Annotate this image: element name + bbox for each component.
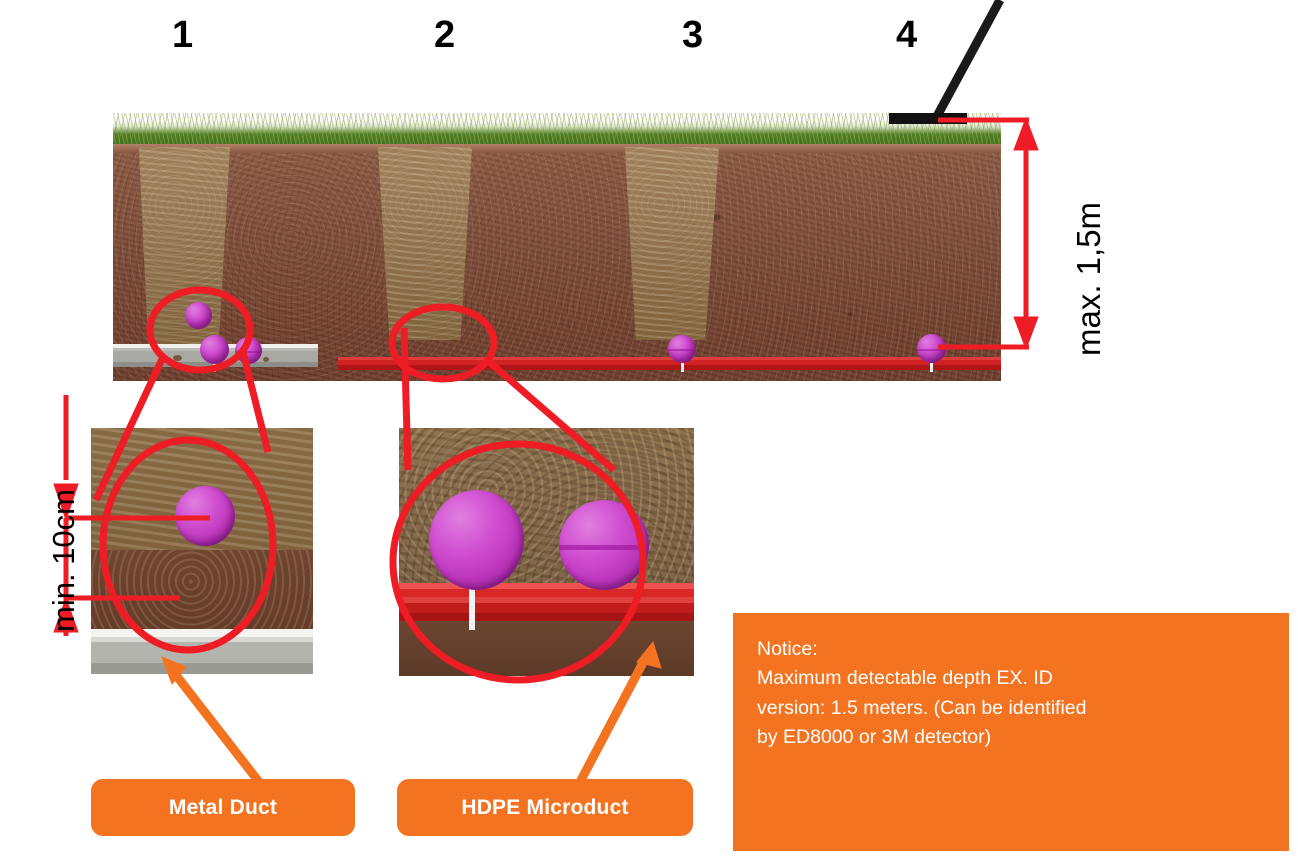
detector-wand-icon bbox=[889, 0, 1000, 124]
callout-ellipse-1-detail bbox=[103, 440, 273, 650]
depth-dimension-label: max. 1,5m bbox=[1070, 202, 1108, 356]
leader-line-2b bbox=[487, 360, 614, 470]
notice-heading: Notice: bbox=[757, 635, 1265, 664]
leader-line-1b bbox=[243, 352, 268, 452]
label-hdpe-microduct: HDPE Microduct bbox=[461, 796, 628, 820]
notice-line-3: by ED8000 or 3M detector) bbox=[757, 723, 1265, 752]
leader-line-2a bbox=[404, 328, 408, 470]
notice-line-2: version: 1.5 meters. (Can be identified bbox=[757, 694, 1265, 723]
arrow-hdpe-microduct bbox=[580, 642, 661, 782]
callout-ellipse-2-detail bbox=[393, 444, 643, 680]
diagram-canvas: 1 2 3 4 bbox=[0, 0, 1298, 856]
clearance-dimension-label: min. 10cm bbox=[46, 489, 82, 632]
label-metal-duct: Metal Duct bbox=[169, 796, 277, 820]
leader-line-1a bbox=[96, 357, 163, 500]
notice-line-1: Maximum detectable depth EX. ID bbox=[757, 664, 1265, 693]
depth-dimension-max bbox=[938, 118, 1038, 349]
label-box-metal-duct[interactable]: Metal Duct bbox=[91, 779, 355, 836]
notice-box: Notice: Maximum detectable depth EX. ID … bbox=[733, 613, 1289, 851]
label-box-hdpe-microduct[interactable]: HDPE Microduct bbox=[397, 779, 693, 836]
arrow-metal-duct bbox=[162, 657, 259, 782]
